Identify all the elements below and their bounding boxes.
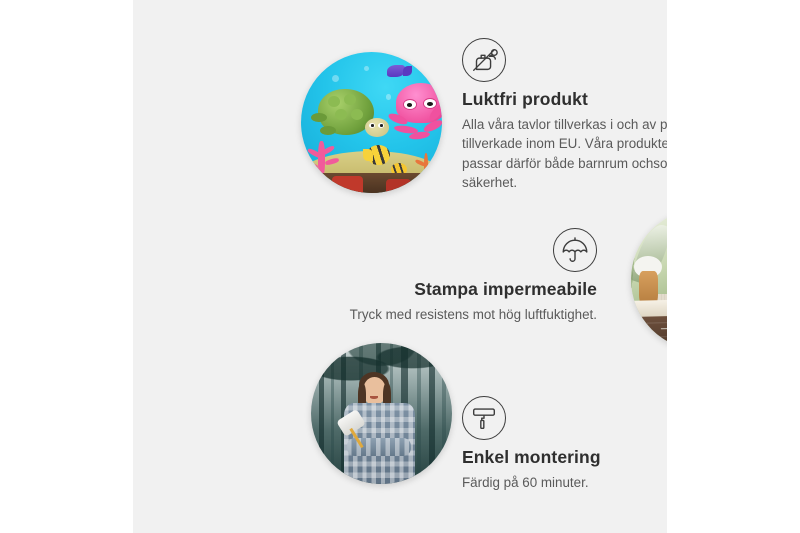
icon-wrapper (338, 228, 597, 272)
foreground-red-object (332, 176, 363, 193)
product-photo-bathroom[interactable] (631, 209, 667, 350)
countertop (631, 297, 667, 318)
feature-title: Luktfri produkt (462, 89, 667, 110)
feature-body: Färdig på 60 minuter. (462, 473, 667, 492)
turtle-eye (369, 123, 375, 128)
ocean-illustration (301, 52, 442, 193)
product-photo-ocean[interactable] (301, 52, 442, 193)
bathroom-scene (631, 209, 667, 350)
feature-title: Stampa impermeabile (338, 279, 597, 300)
fish-yellow-tail (363, 149, 373, 160)
icon-wrapper (462, 396, 667, 440)
no-fragrance-icon (462, 38, 506, 82)
feature-body: Tryck med resistens mot hög luftfuktighe… (338, 305, 597, 324)
foreground-red-object (386, 179, 411, 193)
page-root: Luktfri produkt Alla våra tavlor tillver… (0, 0, 800, 533)
feature-block-odourless: Luktfri produkt Alla våra tavlor tillver… (462, 38, 667, 193)
turtle-flipper (320, 126, 336, 135)
feature-body: Alla våra tavlor tillverkas i och av pro… (462, 115, 667, 193)
vanity-cabinet (642, 313, 667, 350)
content-panel: Luktfri produkt Alla våra tavlor tillver… (133, 0, 667, 533)
paint-roller-icon (462, 396, 506, 440)
feature-block-waterproof: Stampa impermeabile Tryck med resistens … (338, 228, 597, 324)
octopus-icon (388, 83, 442, 148)
smile (370, 396, 378, 399)
foreground-shell (417, 179, 431, 190)
product-photo-forest[interactable] (311, 343, 452, 484)
feature-title: Enkel montering (462, 447, 667, 468)
bubble-icon (332, 75, 339, 82)
turtle-eye (378, 123, 384, 128)
woman-figure (342, 377, 421, 484)
octopus-eye (403, 99, 417, 110)
feature-block-mounting: Enkel montering Färdig på 60 minuter. (462, 396, 667, 492)
sea-turtle-icon (318, 89, 374, 136)
forest-scene (311, 343, 452, 484)
turtle-flipper (311, 113, 327, 122)
umbrella-icon (553, 228, 597, 272)
icon-wrapper (462, 38, 667, 82)
turtle-head (365, 118, 389, 137)
